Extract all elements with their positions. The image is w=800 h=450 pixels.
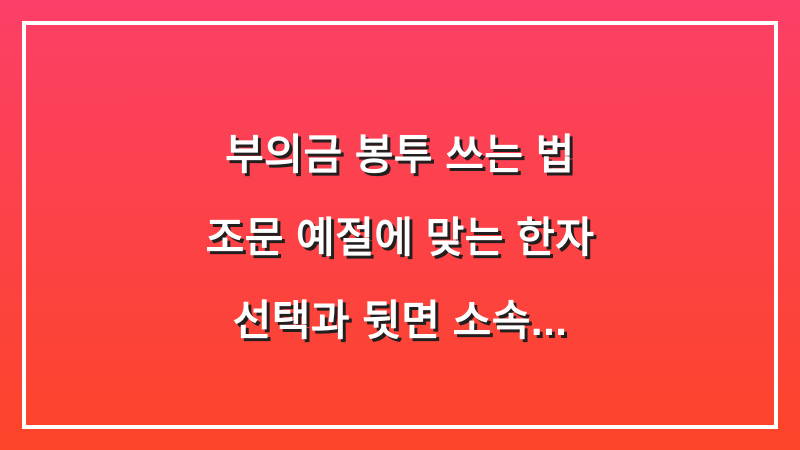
title-line-3: 선택과 뒷면 소속... bbox=[0, 279, 800, 362]
title-block: 부의금 봉투 쓰는 법 조문 예절에 맞는 한자 선택과 뒷면 소속... bbox=[0, 0, 800, 450]
thumbnail-card: 부의금 봉투 쓰는 법 조문 예절에 맞는 한자 선택과 뒷면 소속... bbox=[0, 0, 800, 450]
title-line-2: 조문 예절에 맞는 한자 bbox=[0, 196, 800, 279]
title-line-1: 부의금 봉투 쓰는 법 bbox=[0, 113, 800, 196]
